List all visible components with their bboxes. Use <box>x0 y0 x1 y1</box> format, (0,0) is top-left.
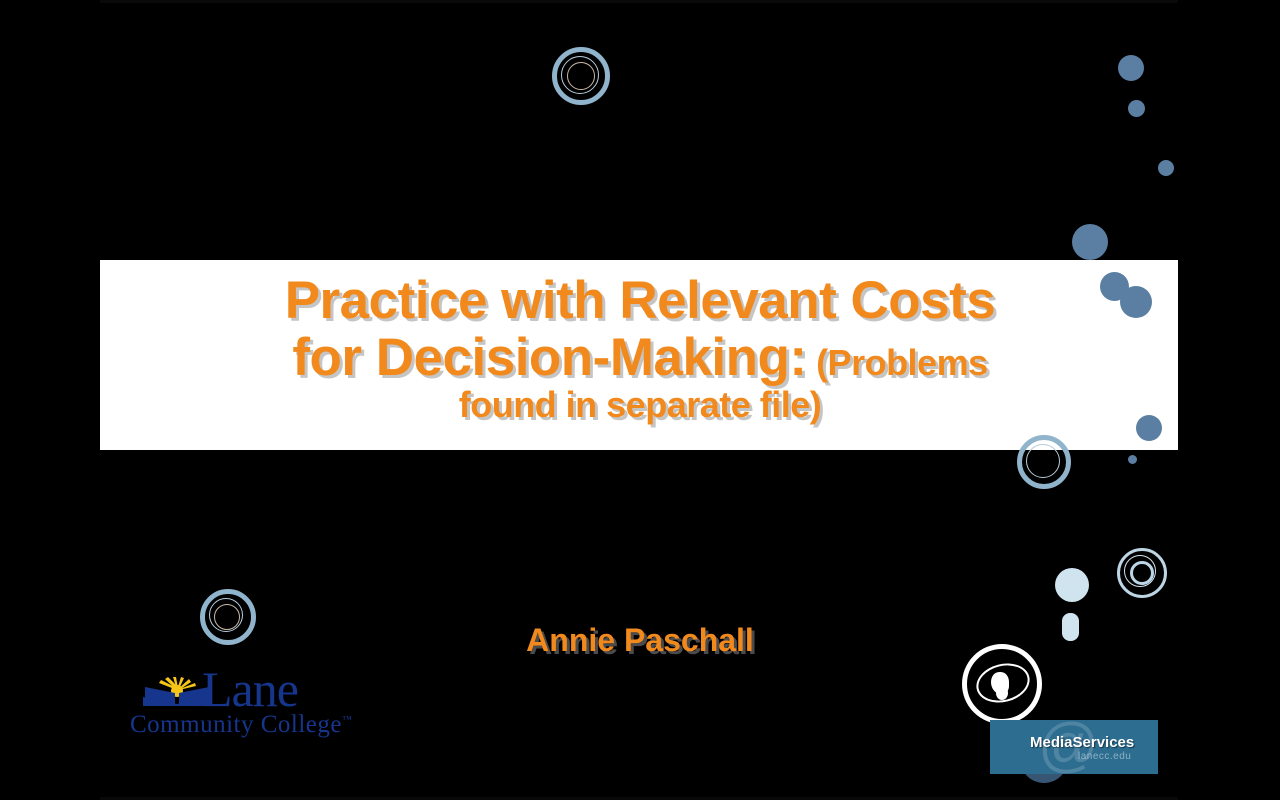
decorative-dot <box>1128 100 1145 117</box>
decorative-ring-icon <box>1026 444 1060 478</box>
decorative-dot <box>1118 55 1144 81</box>
lane-wordmark: Lane <box>202 664 298 714</box>
decorative-dot <box>1136 415 1162 441</box>
top-grid-texture <box>100 0 1178 190</box>
decorative-dot <box>1120 286 1152 318</box>
decorative-ring-icon <box>1130 561 1154 585</box>
media-services-badge: @ MediaServices lanecc.edu <box>990 720 1158 774</box>
lane-community-college-logo: Lane Community College™ <box>130 668 360 740</box>
media-services-url: lanecc.edu <box>1078 751 1131 762</box>
trademark-symbol: ™ <box>342 715 352 726</box>
top-black-swoosh <box>100 0 1178 260</box>
decorative-dot <box>1158 160 1174 176</box>
slide-author: Annie Paschall <box>160 622 1120 659</box>
media-services-title: MediaServices <box>1030 734 1134 751</box>
slide-title: Practice with Relevant Costs for Decisio… <box>160 272 1120 425</box>
book-sunrise-icon <box>143 674 211 706</box>
decorative-ring-icon <box>567 62 595 90</box>
decorative-swirl-icon <box>996 686 1008 700</box>
top-slate-band <box>100 0 1178 190</box>
decorative-dot <box>1055 568 1089 602</box>
top-edge-line <box>100 0 1178 3</box>
top-cyan-band <box>100 0 1178 190</box>
decorative-dot <box>1072 224 1108 260</box>
title-line-1: Practice with Relevant Costs <box>160 272 1120 329</box>
video-letterbox-stage: Practice with Relevant Costs for Decisio… <box>0 0 1280 800</box>
lane-subtitle: Community College™ <box>130 712 352 737</box>
title-line-2-paren: (Problems <box>816 342 988 383</box>
title-line-2: for Decision-Making: (Problems <box>160 329 1120 386</box>
title-line-2-main: for Decision-Making: <box>292 328 806 387</box>
title-line-3: found in separate file) <box>160 386 1120 425</box>
presentation-slide: Practice with Relevant Costs for Decisio… <box>100 0 1178 800</box>
decorative-dot <box>1128 455 1137 464</box>
